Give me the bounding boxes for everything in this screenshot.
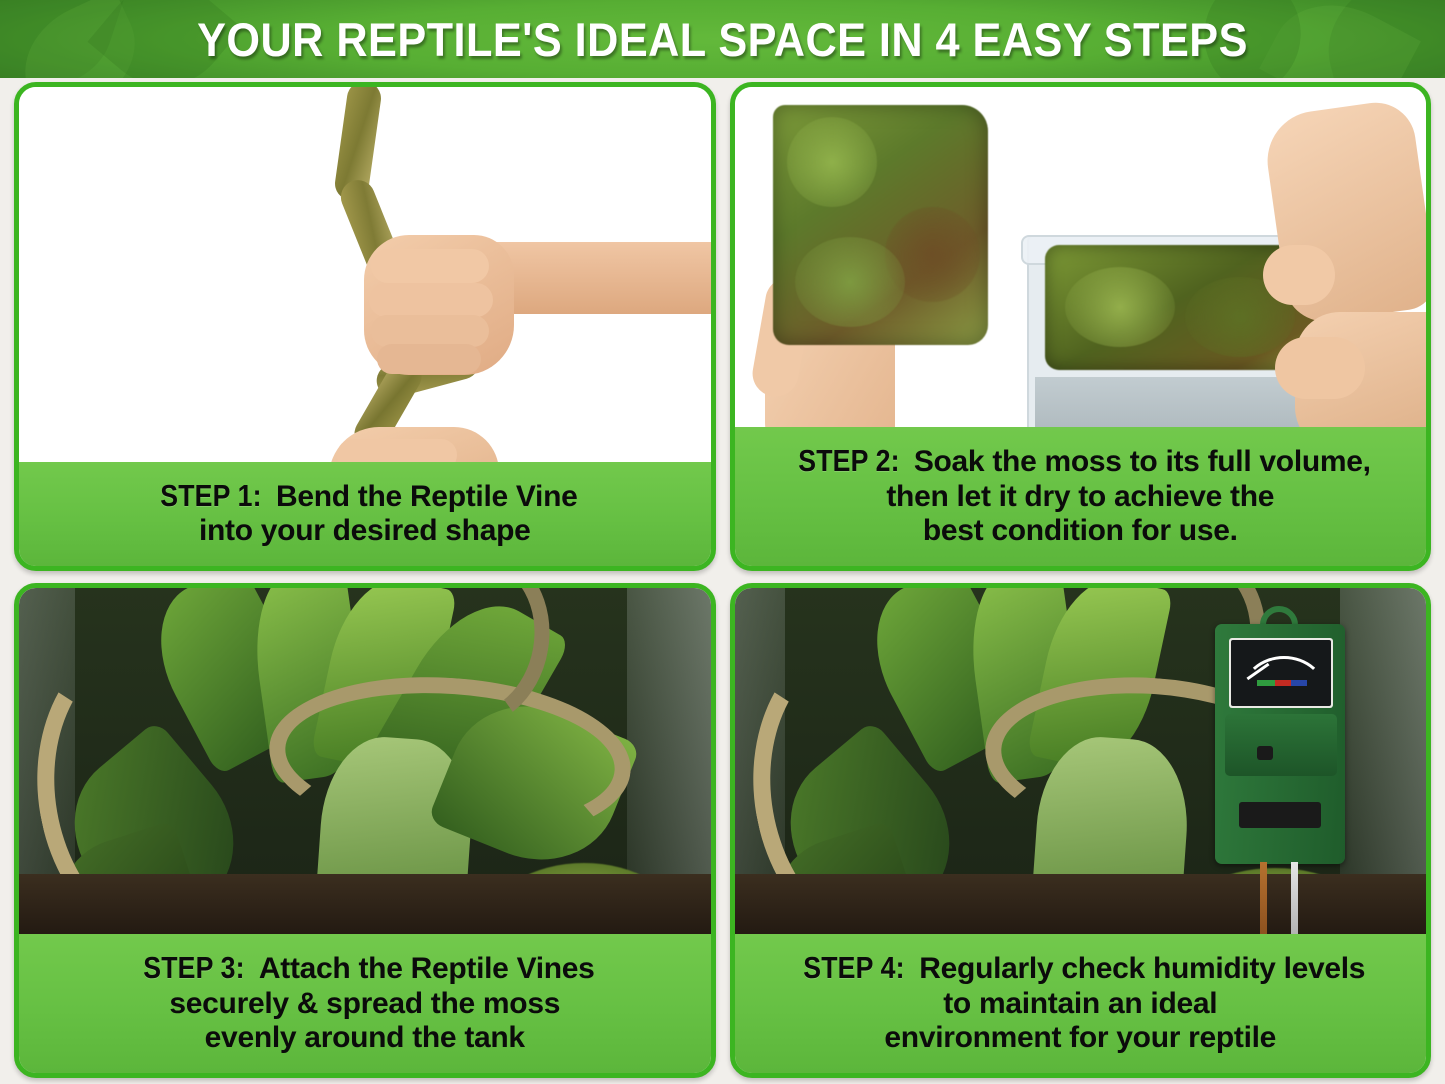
step-4-line-3: environment for your reptile [751, 1021, 1411, 1055]
step-2-label: STEP 2: [798, 443, 899, 478]
header-banner: YOUR REPTILE'S IDEAL SPACE IN 4 EASY STE… [0, 0, 1445, 78]
step-2-line-3: best condition for use. [751, 514, 1411, 548]
step-4-line-2: to maintain an ideal [751, 987, 1411, 1021]
step-4-caption: STEP 4:Regularly check humidity levels t… [735, 934, 1427, 1073]
meter-mode-switch [1257, 746, 1273, 760]
step-3-label: STEP 3: [143, 950, 244, 985]
step-3-line-2: securely & spread the moss [35, 987, 695, 1021]
meter-dial-face [1231, 640, 1331, 706]
finger [377, 344, 481, 374]
page-title: YOUR REPTILE'S IDEAL SPACE IN 4 EASY STE… [58, 0, 1387, 78]
meter-probe-steel [1291, 862, 1298, 934]
step-1-line-1: Bend the Reptile Vine [276, 480, 578, 514]
step-4-label: STEP 4: [804, 950, 905, 985]
finger [371, 249, 489, 283]
step-card-3: STEP 3:Attach the Reptile Vines securely… [14, 583, 716, 1078]
step-2-line-2: then let it dry to achieve the [751, 480, 1411, 514]
step-3-line-3: evenly around the tank [35, 1021, 695, 1055]
meter-front-panel [1225, 714, 1337, 776]
finger [337, 439, 457, 462]
step-card-4: STEP 4:Regularly check humidity levels t… [730, 583, 1432, 1078]
humidity-meter [1205, 606, 1355, 934]
step-2-line-1: Soak the moss to its full volume, [914, 445, 1371, 479]
meter-dial-segment [1291, 680, 1307, 686]
substrate [19, 874, 711, 934]
step-card-2: STEP 2:Soak the moss to its full volume,… [730, 82, 1432, 571]
meter-dial-segment [1275, 680, 1291, 686]
meter-probe-copper [1260, 862, 1267, 934]
step-4-photo [735, 588, 1427, 934]
wet-moss [1065, 267, 1175, 347]
step-4-line-1: Regularly check humidity levels [919, 952, 1365, 986]
step-2-caption: STEP 2:Soak the moss to its full volume,… [735, 427, 1427, 566]
step-3-caption: STEP 3:Attach the Reptile Vines securely… [19, 934, 711, 1073]
step-card-1: STEP 1:Bend the Reptile Vine into your d… [14, 82, 716, 571]
step-1-line-2: into your desired shape [35, 514, 695, 548]
meter-dial [1229, 638, 1333, 708]
step-1-caption: STEP 1:Bend the Reptile Vine into your d… [19, 462, 711, 566]
meter-dial-segment [1257, 680, 1275, 686]
steps-grid: STEP 1:Bend the Reptile Vine into your d… [14, 82, 1431, 1078]
step-3-photo [19, 588, 711, 934]
step-1-photo [19, 87, 711, 462]
dry-moss-block [795, 237, 905, 327]
dry-moss-block [787, 117, 877, 207]
fingertips [1275, 337, 1365, 399]
step-1-label: STEP 1: [160, 478, 261, 513]
fingertips [1263, 245, 1335, 305]
step-3-line-1: Attach the Reptile Vines [259, 952, 595, 986]
finger [369, 283, 493, 317]
meter-mode-switch [1239, 802, 1321, 828]
step-2-photo [735, 87, 1427, 427]
finger [371, 315, 489, 347]
